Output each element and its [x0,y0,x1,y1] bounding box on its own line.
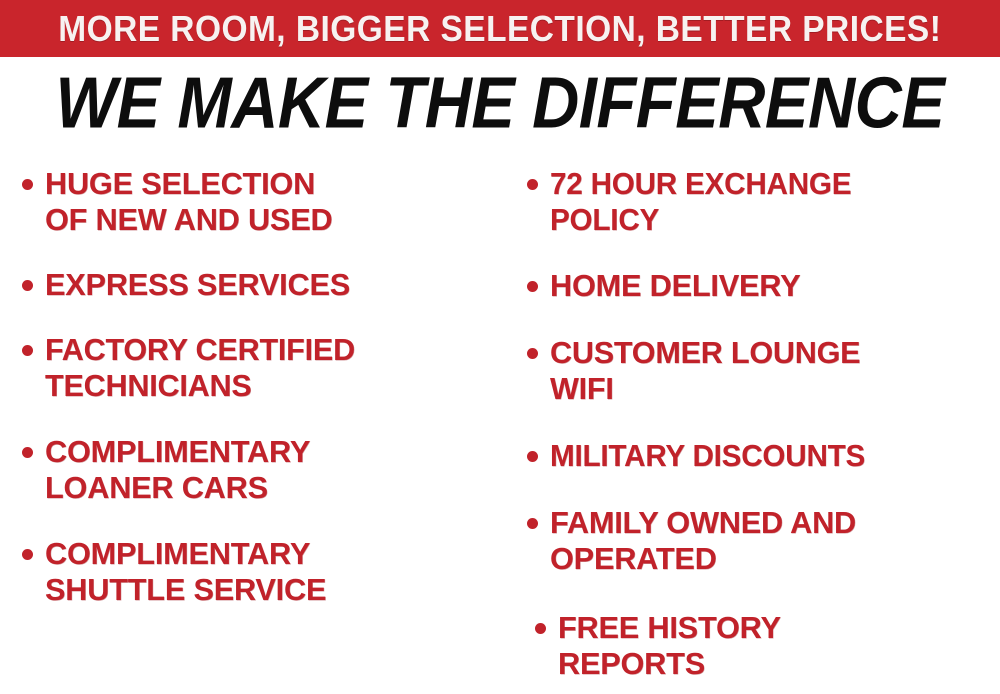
list-item: FACTORY CERTIFIED TECHNICIANS [22,332,500,404]
list-item-label: MILITARY DISCOUNTS [550,438,980,474]
list-item: FAMILY OWNED AND OPERATED [527,505,1000,577]
list-item: MILITARY DISCOUNTS [527,438,1000,474]
bullet-dot-icon [527,179,538,190]
top-banner: MORE ROOM, BIGGER SELECTION, BETTER PRIC… [0,0,1000,57]
list-item-label: HOME DELIVERY [550,268,996,304]
list-item: FREE HISTORY REPORTS [535,610,1000,682]
list-item-label: 72 HOUR EXCHANGE POLICY [550,166,980,238]
list-item-label: FACTORY CERTIFIED TECHNICIANS [45,332,493,404]
list-item-label: CUSTOMER LOUNGE WIFI [550,335,993,407]
bullet-dot-icon [527,281,538,292]
benefits-columns: HUGE SELECTION OF NEW AND USED EXPRESS S… [0,158,1000,694]
banner-headline-text: MORE ROOM, BIGGER SELECTION, BETTER PRIC… [58,11,941,47]
list-item-label: FAMILY OWNED AND OPERATED [550,505,996,577]
bullet-dot-icon [527,518,538,529]
bullet-dot-icon [22,280,33,291]
list-item: CUSTOMER LOUNGE WIFI [527,335,1000,407]
page-title: WE MAKE THE DIFFERENCE [0,69,1000,137]
list-item: COMPLIMENTARY SHUTTLE SERVICE [22,536,500,608]
list-item: HOME DELIVERY [527,268,1000,304]
bullet-dot-icon [535,623,546,634]
list-item-label: HUGE SELECTION OF NEW AND USED [45,166,495,238]
list-item: 72 HOUR EXCHANGE POLICY [527,166,1000,238]
list-item-label: EXPRESS SERVICES [45,267,495,303]
list-item-label: FREE HISTORY REPORTS [558,610,996,682]
bullet-dot-icon [22,447,33,458]
benefits-column-left: HUGE SELECTION OF NEW AND USED EXPRESS S… [0,158,500,694]
bullet-dot-icon [22,345,33,356]
bullet-dot-icon [527,451,538,462]
bullet-dot-icon [527,348,538,359]
list-item: EXPRESS SERVICES [22,267,500,303]
benefits-list-left: HUGE SELECTION OF NEW AND USED EXPRESS S… [0,166,500,608]
list-item: HUGE SELECTION OF NEW AND USED [22,166,500,238]
page-title-text: WE MAKE THE DIFFERENCE [56,67,945,140]
list-item-label: COMPLIMENTARY SHUTTLE SERVICE [45,536,495,608]
promotional-poster: MORE ROOM, BIGGER SELECTION, BETTER PRIC… [0,0,1000,694]
list-item: COMPLIMENTARY LOANER CARS [22,434,500,506]
benefits-column-right: 72 HOUR EXCHANGE POLICY HOME DELIVERY CU… [500,158,1000,694]
benefits-list-right: 72 HOUR EXCHANGE POLICY HOME DELIVERY CU… [500,166,1000,682]
bullet-dot-icon [22,549,33,560]
bullet-dot-icon [22,179,33,190]
list-item-label: COMPLIMENTARY LOANER CARS [45,434,495,506]
